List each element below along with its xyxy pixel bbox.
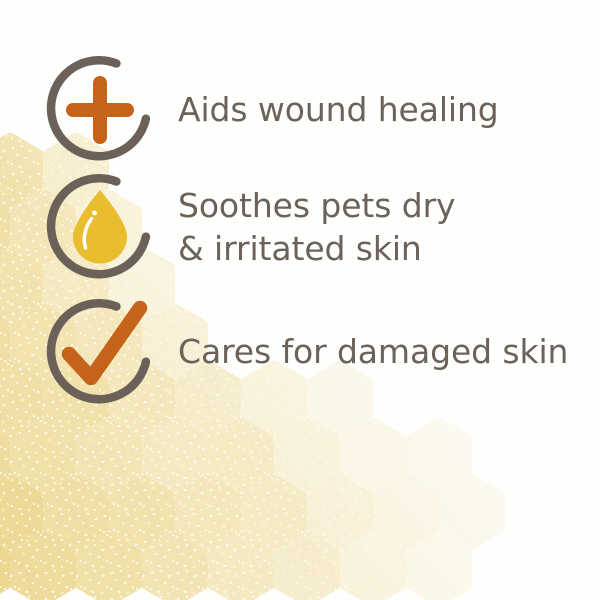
benefit-item-damaged-skin: Cares for damaged skin (40, 290, 580, 415)
checkmark-in-circle-icon (40, 293, 160, 413)
benefits-infographic: Aids wound healing Soothes pets dry & ir… (0, 0, 600, 600)
oil-drop-in-circle-icon (40, 168, 160, 288)
benefit-label: Aids wound healing (178, 89, 580, 131)
checkmark-glyph (69, 308, 140, 378)
benefit-item-wound-healing: Aids wound healing (40, 50, 580, 170)
droplet-glyph (73, 190, 127, 264)
plus-in-circle-icon (40, 50, 160, 170)
droplet-sparkle (92, 210, 97, 215)
plus-glyph (73, 83, 127, 137)
benefit-label: Soothes pets dry & irritated skin (178, 185, 580, 269)
benefits-list: Aids wound healing Soothes pets dry & ir… (0, 0, 600, 600)
benefit-label: Cares for damaged skin (178, 331, 580, 373)
benefit-item-soothes-skin: Soothes pets dry & irritated skin (40, 165, 580, 290)
